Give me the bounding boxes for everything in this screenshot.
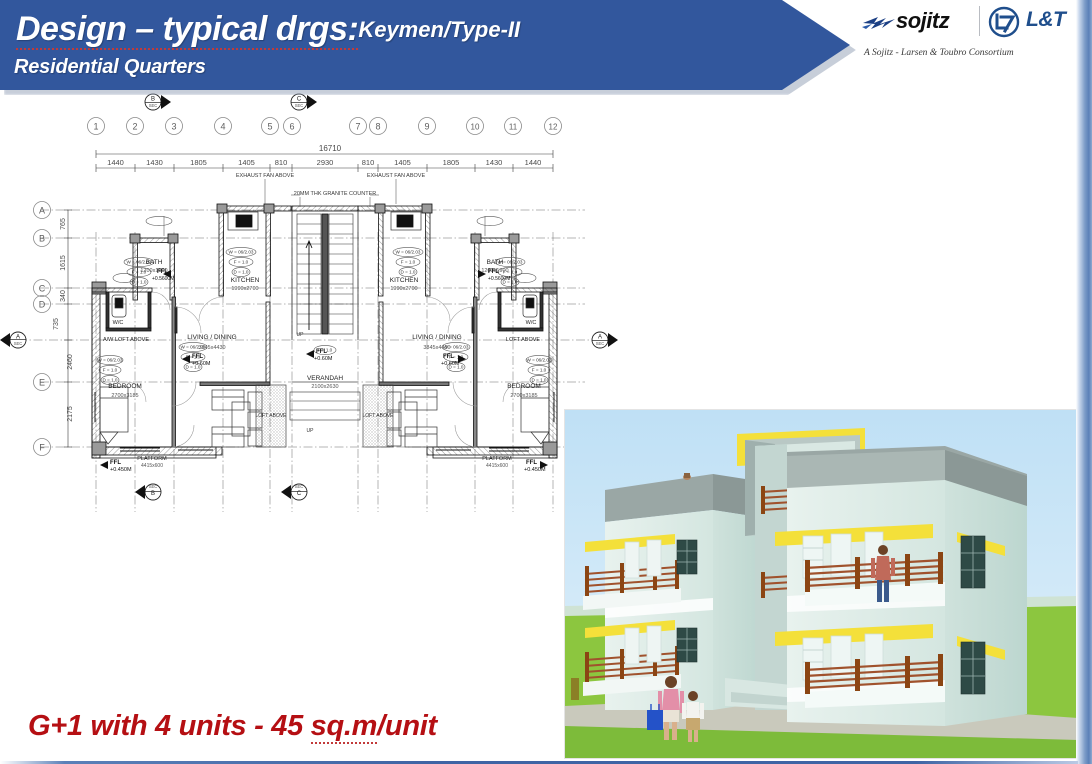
grid-col-2: 2 xyxy=(132,122,137,132)
section-marker-C-bot: C xyxy=(297,491,302,497)
room-size-kitchen-left: 1990x2700 xyxy=(231,286,258,292)
lt-wordmark: L&T xyxy=(1026,8,1065,32)
note-exhaust-fan-left: EXHAUST FAN ABOVE xyxy=(236,173,295,179)
page-title: Design – typical drgs:Keymen/Type-II xyxy=(16,10,520,52)
col-dim-5: 810 xyxy=(275,158,288,167)
slide-caption: G+1 with 4 units - 45 sq.m/unit xyxy=(28,710,437,743)
caption-part-a: G+1 with 4 units - 45 xyxy=(28,710,311,742)
grid-col-3: 3 xyxy=(171,122,176,132)
grid-col-12: 12 xyxy=(549,123,558,132)
section-ref-1: SEC xyxy=(149,103,158,108)
grid-col-5: 5 xyxy=(267,122,272,132)
stair-up-label-top: UP xyxy=(297,332,305,338)
logo-divider xyxy=(979,6,980,36)
grid-col-6: 6 xyxy=(289,122,294,132)
overall-dimension: 16710 xyxy=(319,144,342,153)
section-marker-C-top: C xyxy=(297,97,302,103)
room-label-living-left: LIVING / DINING xyxy=(187,334,236,341)
grid-row-B: B xyxy=(39,234,45,244)
page-title-suffix: Keymen/Type-II xyxy=(358,17,520,42)
tag-window-kit-r: W = 06/2.03 xyxy=(396,250,421,255)
ffl-label-bath-left: FFL xyxy=(157,269,168,275)
stair-up-label-bottom: UP xyxy=(307,428,315,434)
tag-d-bed-r: D = 1.0 xyxy=(532,378,547,383)
room-label-bedroom-right: BEDROOM xyxy=(507,383,541,390)
row-dim-2460: 2460 xyxy=(67,354,74,370)
ffl-value-platform-right: +0.450M xyxy=(524,467,546,473)
logo-lockup: sojitz L&T A Sojitz - Larsen & Toubro Co… xyxy=(862,4,1077,66)
room-size-bedroom-left: 2700x3185 xyxy=(111,393,138,399)
grid-col-1: 1 xyxy=(93,122,98,132)
room-label-bath-left: BATH xyxy=(146,259,163,266)
note-exhaust-fan-right: EXHAUST FAN ABOVE xyxy=(367,173,426,179)
sojitz-logo: sojitz xyxy=(862,8,974,38)
grid-row-C: C xyxy=(39,284,46,294)
ffl-label-platform-right: FFL xyxy=(526,460,537,466)
room-size-verandah: 2100x2630 xyxy=(311,384,338,390)
loft-hatch-label-right: LOFT ABOVE xyxy=(362,413,394,419)
tag-f-bed-l: F = 1.0 xyxy=(103,368,118,373)
grid-col-11: 11 xyxy=(509,123,518,132)
col-dim-4: 1405 xyxy=(238,158,255,167)
loft-hatch-label-left: LOFT ABOVE xyxy=(255,413,287,419)
room-size-kitchen-right: 1990x2700 xyxy=(390,286,417,292)
tag-d-left: D = 1.0 xyxy=(132,280,147,285)
right-edge-accent xyxy=(1076,0,1092,764)
tag-window-bed-l: W = 06/2.03 xyxy=(98,358,123,363)
tag-d-kit-l: D = 1.0 xyxy=(234,270,249,275)
grid-col-8: 8 xyxy=(375,122,380,132)
room-label-kitchen-right: KITCHEN xyxy=(390,277,419,284)
ffl-label-verandah: FFL xyxy=(316,349,327,355)
room-label-loft-left: A/W LOFT ABOVE xyxy=(103,337,149,343)
figure-person-on-roof xyxy=(683,473,691,480)
room-label-platform-left: PLATFORM xyxy=(137,456,167,462)
ffl-label-bath-right: FFL xyxy=(488,269,499,275)
tag-window-kit-l: W = 06/2.03 xyxy=(229,250,254,255)
section-ref-3: SEC xyxy=(149,484,158,489)
col-dim-8: 1405 xyxy=(394,158,411,167)
room-label-wc-right: W/C xyxy=(526,320,537,326)
section-marker-A-left: A xyxy=(16,335,20,341)
col-dim-2: 1430 xyxy=(146,158,163,167)
room-size-bedroom-right: 2700x3185 xyxy=(510,393,537,399)
title-banner: Design – typical drgs:Keymen/Type-II Res… xyxy=(0,0,860,92)
room-label-living-right: LIVING / DINING xyxy=(412,334,461,341)
row-dim-765: 765 xyxy=(60,218,67,230)
ffl-value-bath-right: +0.5600M xyxy=(488,276,510,282)
col-dim-7: 810 xyxy=(362,158,375,167)
sojitz-swoosh-icon xyxy=(862,12,896,32)
grid-col-10: 10 xyxy=(471,123,480,132)
row-dim-2175: 2175 xyxy=(67,406,74,422)
section-ref-4: SEC xyxy=(295,484,304,489)
consortium-tagline: A Sojitz - Larsen & Toubro Consortium xyxy=(864,48,1014,58)
col-dim-11: 1440 xyxy=(525,158,542,167)
section-marker-A-right: A xyxy=(598,335,602,341)
room-label-platform-right: PLATFORM xyxy=(482,456,512,462)
ffl-value-platform-left: +0.450M xyxy=(110,467,132,473)
grid-row-F: F xyxy=(39,443,45,453)
ffl-label-living-right: FFL xyxy=(443,354,454,360)
col-dim-9: 1805 xyxy=(443,158,460,167)
page-subtitle: Residential Quarters xyxy=(14,56,206,79)
page-title-main: Design – typical drgs: xyxy=(16,10,358,50)
floor-plan-drawing: 1 2 3 4 5 6 7 8 9 10 11 12 16710 xyxy=(0,92,620,512)
grid-row-E: E xyxy=(39,378,45,388)
slide-canvas: 1 2 3 4 5 6 7 8 9 10 11 12 16710 xyxy=(0,0,1092,764)
col-dim-10: 1430 xyxy=(486,158,503,167)
section-ref-2: SEC xyxy=(295,103,304,108)
tag-f-kit-l: F = 1.0 xyxy=(234,260,249,265)
room-size-living-right: 3845x4430 xyxy=(423,345,450,351)
room-size-platform-right: 4415x600 xyxy=(486,463,508,469)
sojitz-wordmark: sojitz xyxy=(896,8,949,34)
room-label-bath-right: BATH xyxy=(487,259,504,266)
tag-f-bed-r: F = 1.0 xyxy=(532,368,547,373)
room-label-bedroom-left: BEDROOM xyxy=(108,383,142,390)
ffl-label-living-left: FFL xyxy=(192,354,203,360)
grid-row-D: D xyxy=(39,300,46,310)
tag-d-bed-l: D = 1.0 xyxy=(103,378,118,383)
row-dim-340: 340 xyxy=(60,290,67,302)
section-marker-B-top: B xyxy=(151,97,155,103)
grid-row-A: A xyxy=(39,206,45,216)
ffl-value-verandah: +0.60M xyxy=(314,356,333,362)
section-ref-5: SEC xyxy=(14,341,23,346)
note-granite-counter: 20MM THK GRANITE COUNTER xyxy=(294,191,376,197)
col-dim-3: 1805 xyxy=(190,158,207,167)
ffl-value-living-right: +0.60M xyxy=(441,361,460,367)
tag-window-bed-r: W = 06/2.03 xyxy=(527,358,552,363)
tag-d-kit-r: D = 1.0 xyxy=(401,270,416,275)
room-label-loft-right: LOFT ABOVE xyxy=(506,337,540,343)
grid-col-4: 4 xyxy=(220,122,225,132)
tag-f-kit-r: F = 1.0 xyxy=(401,260,416,265)
ffl-value-bath-left: +0.5600M xyxy=(152,276,174,282)
row-dim-735: 735 xyxy=(53,318,60,330)
caption-part-c: /unit xyxy=(377,710,437,742)
grid-col-7: 7 xyxy=(355,122,360,132)
caption-part-b: sq.m xyxy=(311,710,378,744)
section-marker-B-bot: B xyxy=(151,491,155,497)
shrub-decor xyxy=(571,678,579,700)
grid-col-9: 9 xyxy=(424,122,429,132)
building-3d-render xyxy=(565,410,1078,758)
room-size-platform-left: 4415x600 xyxy=(141,463,163,469)
room-label-wc-left: W/C xyxy=(113,320,124,326)
section-ref-6: SEC xyxy=(596,341,605,346)
room-label-kitchen-left: KITCHEN xyxy=(231,277,260,284)
lt-circle-icon xyxy=(988,6,1020,38)
col-dim-1: 1440 xyxy=(107,158,124,167)
ffl-value-living-left: +0.60M xyxy=(192,361,211,367)
room-label-verandah: VERANDAH xyxy=(307,375,343,382)
row-dim-1615: 1615 xyxy=(60,255,67,271)
col-dim-6: 2930 xyxy=(317,158,334,167)
room-size-living-left: 3845x4430 xyxy=(198,345,225,351)
ffl-label-platform-left: FFL xyxy=(110,460,121,466)
